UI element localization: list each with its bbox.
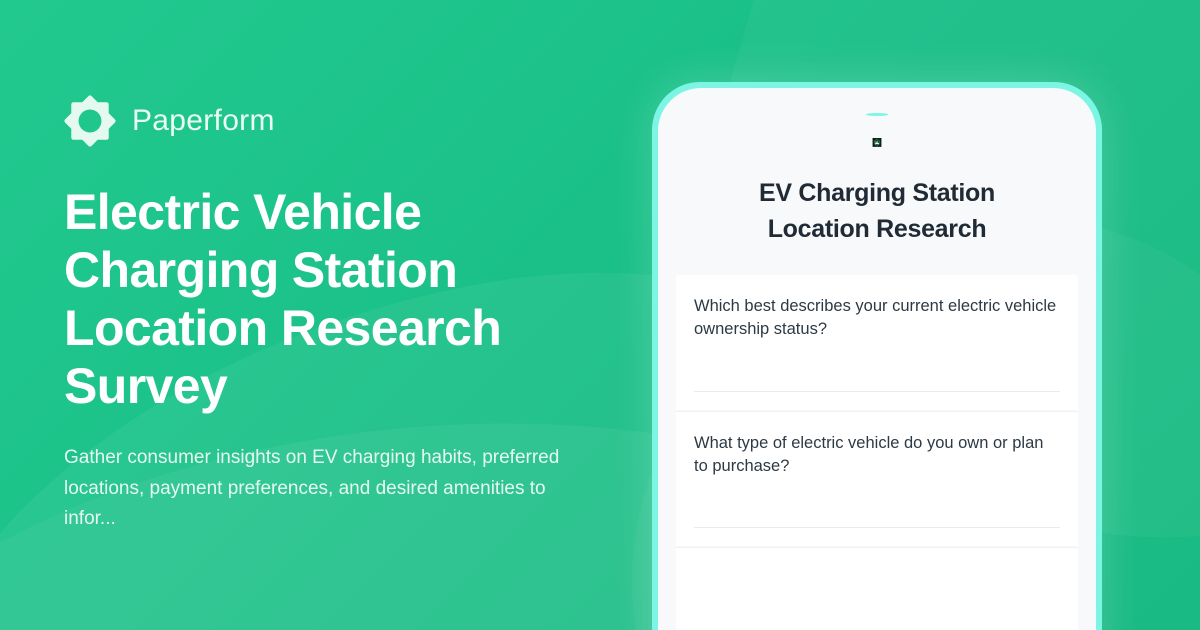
hero-left-panel: Paperform Electric Vehicle Charging Stat… xyxy=(64,0,644,630)
question-card[interactable]: What type of electric vehicle do you own… xyxy=(676,411,1078,546)
page-subtitle: Gather consumer insights on EV charging … xyxy=(64,443,569,535)
phone-screen: EV Charging Station Location Research Wh… xyxy=(658,88,1096,630)
question-text: What type of electric vehicle do you own… xyxy=(694,432,1060,479)
paperform-star-logo-icon xyxy=(64,95,116,147)
question-card[interactable]: Which best describes your current electr… xyxy=(676,275,1078,410)
brand-lockup: Paperform xyxy=(64,95,644,147)
answer-input-rule[interactable] xyxy=(694,391,1060,392)
question-card[interactable] xyxy=(676,547,1078,630)
question-text: Which best describes your current electr… xyxy=(694,295,1060,342)
ev-charging-car-badge-icon xyxy=(840,138,914,147)
page-title: Electric Vehicle Charging Station Locati… xyxy=(64,183,564,415)
form-title: EV Charging Station Location Research xyxy=(712,175,1042,248)
phone-mockup-frame: EV Charging Station Location Research Wh… xyxy=(652,82,1102,630)
brand-name: Paperform xyxy=(132,106,275,136)
camera-dot-icon xyxy=(866,113,888,116)
answer-input-rule[interactable] xyxy=(694,527,1060,528)
question-list: Which best describes your current electr… xyxy=(676,275,1078,630)
